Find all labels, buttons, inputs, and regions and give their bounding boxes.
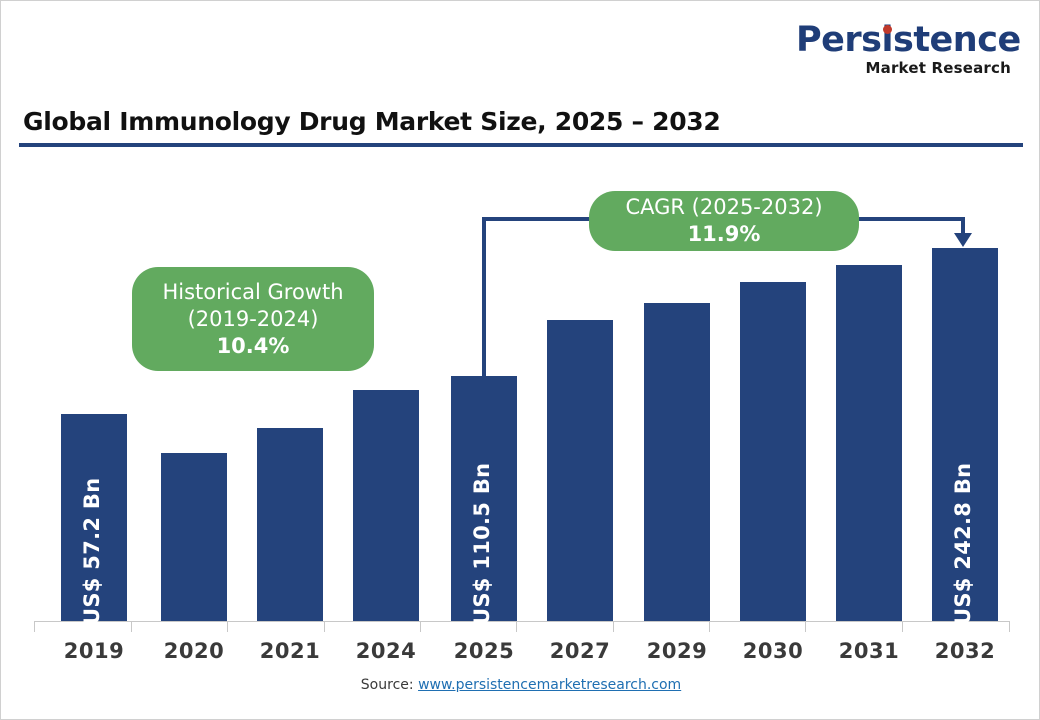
x-axis-label-2024: 2024: [338, 639, 434, 663]
x-axis-label-2025: 2025: [436, 639, 532, 663]
x-axis-label-2031: 2031: [821, 639, 917, 663]
cagr-connector-horizontal-left: [482, 217, 590, 221]
x-axis-label-2029: 2029: [629, 639, 725, 663]
x-axis-tick: [131, 621, 132, 632]
bar-2021[interactable]: [257, 428, 323, 621]
x-axis-tick: [227, 621, 228, 632]
bar-value-label-2025: US$ 110.5 Bn: [470, 463, 494, 625]
bar-value-label-2032: US$ 242.8 Bn: [951, 463, 975, 625]
historical-callout-line2: (2019-2024): [188, 306, 319, 333]
x-axis-label-2021: 2021: [242, 639, 338, 663]
bar-2020[interactable]: [161, 453, 227, 621]
x-axis-tick: [324, 621, 325, 632]
x-axis-label-2030: 2030: [725, 639, 821, 663]
x-axis-tick: [613, 621, 614, 632]
bar-2024[interactable]: [353, 390, 419, 621]
x-axis-tick: [709, 621, 710, 632]
source-link[interactable]: www.persistencemarketresearch.com: [418, 677, 681, 693]
cagr-connector-vertical-left: [482, 217, 486, 377]
x-axis-tick: [805, 621, 806, 632]
bar-2030[interactable]: [740, 282, 806, 621]
source-label: Source:: [361, 677, 418, 693]
x-axis-tick: [516, 621, 517, 632]
x-axis-tick: [420, 621, 421, 632]
x-axis-tick: [902, 621, 903, 632]
x-axis-label-2027: 2027: [532, 639, 628, 663]
bar-value-label-2019: US$ 57.2 Bn: [80, 478, 104, 625]
chart-page: Persistence Market Research Global Immun…: [0, 0, 1040, 720]
cagr-callout-value: 11.9%: [688, 221, 761, 248]
bar-2027[interactable]: [547, 320, 613, 621]
cagr-callout: CAGR (2025-2032) 11.9%: [589, 191, 859, 251]
source-note: Source: www.persistencemarketresearch.co…: [1, 677, 1040, 693]
x-axis-label-2019: 2019: [46, 639, 142, 663]
historical-growth-callout: Historical Growth (2019-2024) 10.4%: [132, 267, 374, 371]
historical-callout-value: 10.4%: [217, 333, 290, 360]
bar-2029[interactable]: [644, 303, 710, 621]
x-axis-label-2032: 2032: [917, 639, 1013, 663]
x-axis-label-2020: 2020: [146, 639, 242, 663]
historical-callout-line1: Historical Growth: [162, 279, 343, 306]
cagr-connector-horizontal-right: [858, 217, 965, 221]
cagr-callout-line1: CAGR (2025-2032): [625, 194, 822, 221]
x-axis-tick: [1009, 621, 1010, 632]
cagr-connector-arrow-icon: [954, 233, 972, 247]
bar-2031[interactable]: [836, 265, 902, 621]
x-axis-tick: [34, 621, 35, 632]
x-axis-line: [34, 621, 1009, 622]
